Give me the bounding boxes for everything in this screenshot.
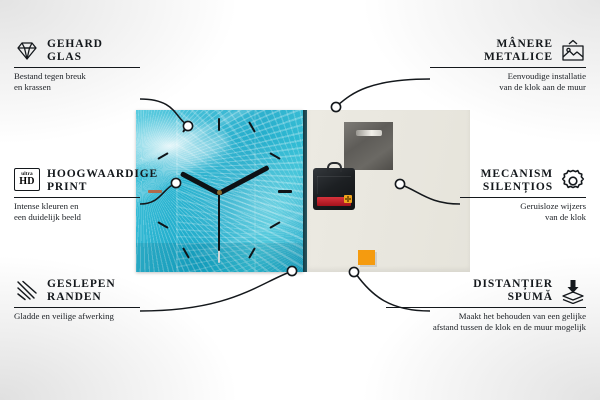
clock-tick-7 [182,247,190,258]
callout-head: ultra HD HOOGWAARDIGE PRINT [14,168,140,194]
leader-manere-metalice [338,79,430,105]
callout-geslepen-randen: GESLEPEN RANDEN Gladde en veilige afwerk… [14,278,140,322]
callout-description: Bestand tegen breuk en krassen [14,71,140,92]
clock-front-face [136,110,303,272]
clock-tick-4 [269,221,280,229]
metal-hanger-plate [344,122,393,170]
callout-rule [14,307,140,308]
clock-tick-2 [269,152,280,160]
diamond-icon [14,38,40,64]
clock-back-panel [307,110,470,272]
ultra-hd-icon: ultra HD [14,168,40,194]
clock-tick-11 [182,121,190,132]
callout-gehard-glas: GEHARD GLAS Bestand tegen breuk en krass… [14,38,140,92]
callout-title: HOOGWAARDIGE PRINT [47,168,158,194]
callout-head: DISTANȚIER SPUMĂ [386,278,586,304]
callout-manere-metalice: MÂNERE METALICE Eenvoudige installatie v… [430,38,586,92]
callout-rule [14,67,140,68]
callout-head: GEHARD GLAS [14,38,140,64]
clock-second-hand [218,193,220,251]
callout-description: Maakt het behouden van een gelijke afsta… [386,311,586,332]
callout-description: Gladde en veilige afwerking [14,311,140,322]
ultra-hd-icon-large-text: HD [19,177,35,187]
callout-head: GESLEPEN RANDEN [14,278,140,304]
picture-hanger-icon [560,38,586,64]
foam-spacer-arrow-icon [560,278,586,304]
callout-title: MECANISM SILENȚIOS [481,168,553,194]
mechanism-hanger-loop [327,162,342,172]
callout-description: Intense kleuren en een duidelijk beeld [14,201,140,222]
clock-hour-hand [180,171,220,196]
callout-head: MÂNERE METALICE [430,38,586,64]
mechanism-detail [317,176,351,194]
callout-title: DISTANȚIER SPUMĂ [473,278,553,304]
clock-minute-hand [218,165,270,196]
callout-rule [14,197,140,198]
clock-mechanism [313,168,355,210]
callout-title: GESLEPEN RANDEN [47,278,116,304]
infographic-stage: GEHARD GLAS Bestand tegen breuk en krass… [0,0,600,400]
callout-mecanism-silentios: MECANISM SILENȚIOS Geruisloze wijzers va… [460,168,586,222]
foam-spacer [358,250,375,265]
glass-seam [176,110,178,272]
clock-tick-5 [248,247,256,258]
feather-streak [195,206,303,258]
clock-tick-6 [218,250,220,263]
clock-tick-8 [157,221,168,229]
product-image [136,110,470,272]
callout-rule [460,197,586,198]
callout-head: MECANISM SILENȚIOS [460,168,586,194]
callout-distantier-spuma: DISTANȚIER SPUMĂ Maakt het behouden van … [386,278,586,332]
battery-plus-icon [344,195,352,203]
feather-streak [136,110,270,168]
clock-tick-3 [278,190,292,193]
callout-hoogwaardige-print: ultra HD HOOGWAARDIGE PRINT Intense kleu… [14,168,140,222]
beveled-edges-icon [14,278,40,304]
gear-icon [560,168,586,194]
callout-description: Geruisloze wijzers van de klok [460,201,586,222]
callout-title: MÂNERE METALICE [484,38,553,64]
callout-rule [386,307,586,308]
callout-description: Eenvoudige installatie van de klok aan d… [430,71,586,92]
callout-title: GEHARD GLAS [47,38,103,64]
clock-center-cap [217,190,222,195]
clock-tick-10 [157,152,168,160]
hanger-slot [356,130,382,136]
callout-rule [430,67,586,68]
clock-tick-1 [248,121,256,132]
clock-tick-12 [218,118,220,131]
